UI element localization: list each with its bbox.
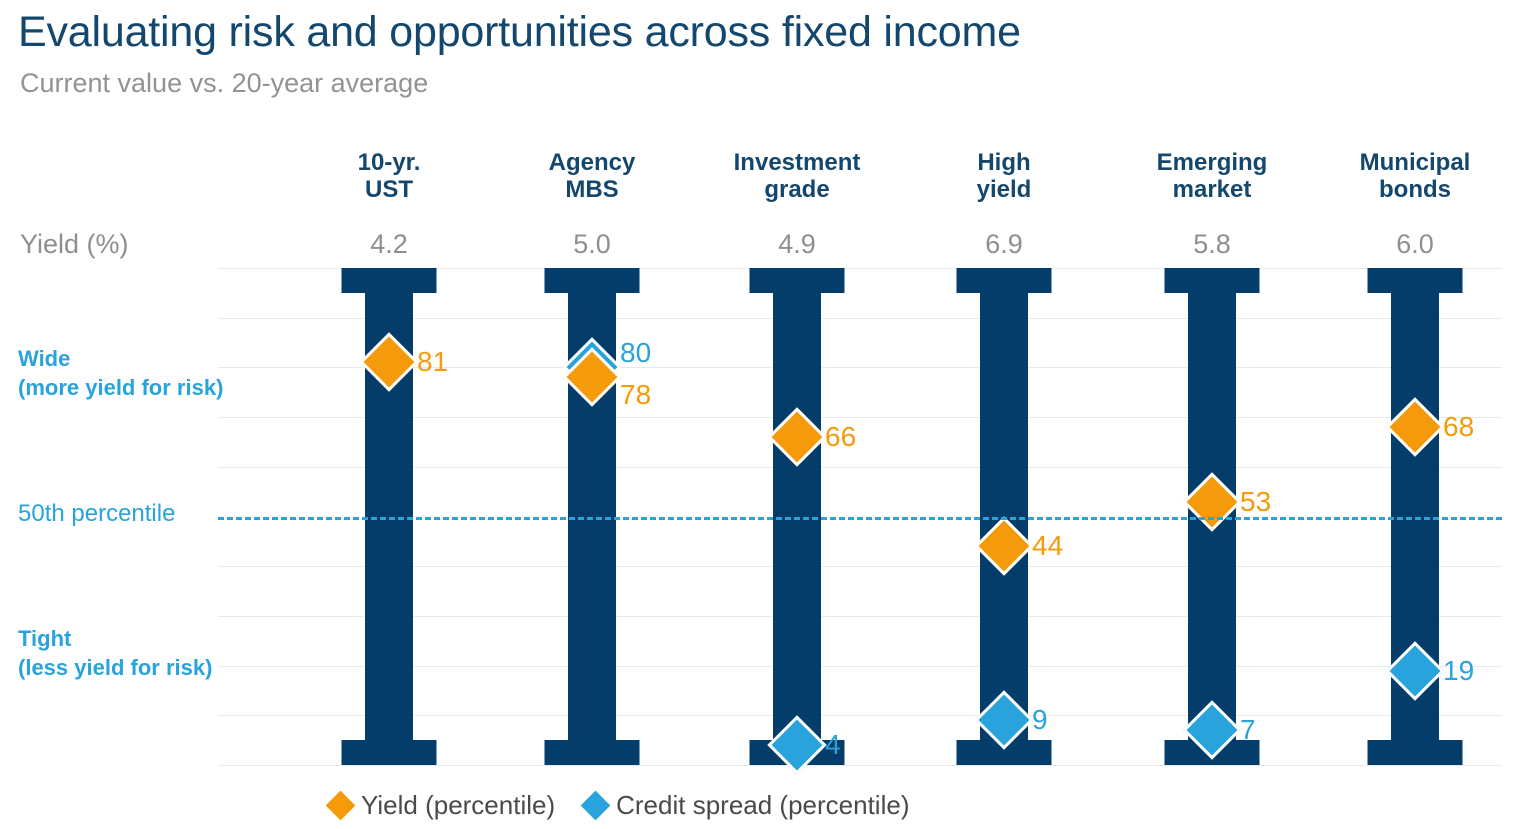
diamond-icon — [581, 791, 611, 821]
yield-value-label: 66 — [825, 421, 856, 453]
column-header-line-2: bonds — [1320, 177, 1510, 204]
bar-cap-top — [545, 268, 640, 293]
plot-area: 10-yr.UST4.281AgencyMBS5.08078Investment… — [0, 0, 1520, 829]
bar-cap-top — [957, 268, 1052, 293]
bar-cap-bottom — [545, 740, 640, 765]
column-header-label: Emergingmarket — [1117, 150, 1307, 204]
yield-value-label: 53 — [1240, 486, 1271, 518]
credit-spread-value-label: 19 — [1443, 655, 1474, 687]
column-header-line-1: Emerging — [1117, 150, 1307, 177]
column-yield-value: 4.2 — [294, 229, 484, 260]
yield-value-label: 44 — [1032, 530, 1063, 562]
credit-spread-value-label: 9 — [1032, 704, 1048, 736]
column-header-line-2: MBS — [497, 177, 687, 204]
bar-cap-bottom — [342, 740, 437, 765]
legend-item-credit-spread: Credit spread (percentile) — [585, 790, 909, 821]
column-header-line-2: grade — [702, 177, 892, 204]
chart-legend: Yield (percentile) Credit spread (percen… — [330, 790, 909, 821]
column-header-line-2: yield — [909, 177, 1099, 204]
bar-cap-top — [342, 268, 437, 293]
legend-item-yield: Yield (percentile) — [330, 790, 555, 821]
gridline — [218, 765, 1502, 766]
legend-label-yield: Yield (percentile) — [361, 790, 555, 821]
bar-cap-top — [1165, 268, 1260, 293]
legend-label-credit-spread: Credit spread (percentile) — [616, 790, 909, 821]
yield-value-label: 81 — [417, 346, 448, 378]
yield-value-label: 68 — [1443, 411, 1474, 443]
column-header-line-1: Agency — [497, 150, 687, 177]
chart-root: Evaluating risk and opportunities across… — [0, 0, 1520, 829]
column-yield-value: 4.9 — [702, 229, 892, 260]
credit-spread-value-label: 4 — [825, 729, 841, 761]
column-header-label: 10-yr.UST — [294, 150, 484, 204]
diamond-icon — [326, 791, 356, 821]
column-yield-value: 6.9 — [909, 229, 1099, 260]
column-header-label: Municipalbonds — [1320, 150, 1510, 204]
column-header-line-2: market — [1117, 177, 1307, 204]
column-header-line-1: Investment — [702, 150, 892, 177]
column-yield-value: 6.0 — [1320, 229, 1510, 260]
column-yield-value: 5.0 — [497, 229, 687, 260]
bar-cap-bottom — [1368, 740, 1463, 765]
column-header-label: AgencyMBS — [497, 150, 687, 204]
bar-cap-top — [750, 268, 845, 293]
column-header-line-1: High — [909, 150, 1099, 177]
credit-spread-value-label: 80 — [620, 337, 651, 369]
column-header-label: Investmentgrade — [702, 150, 892, 204]
column-header-line-2: UST — [294, 177, 484, 204]
column-header-line-1: 10-yr. — [294, 150, 484, 177]
column-yield-value: 5.8 — [1117, 229, 1307, 260]
median-reference-line — [218, 517, 1502, 520]
yield-value-label: 78 — [620, 379, 651, 411]
column-header-line-1: Municipal — [1320, 150, 1510, 177]
credit-spread-value-label: 7 — [1240, 714, 1256, 746]
column-header-label: Highyield — [909, 150, 1099, 204]
bar-cap-top — [1368, 268, 1463, 293]
